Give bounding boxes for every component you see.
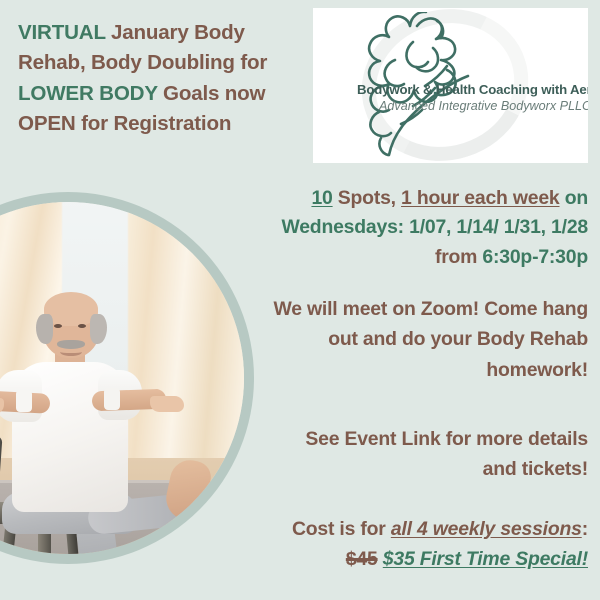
- schedule-line-spots: 10 Spots, 1 hour each week on: [270, 184, 588, 213]
- photo-person-wrist-cuff-left: [16, 390, 32, 412]
- cost-block: Cost is for all 4 weekly sessions: $45 $…: [270, 514, 588, 575]
- photo-person-smile: [60, 348, 82, 356]
- headline: VIRTUAL January Body Rehab, Body Doublin…: [18, 18, 300, 139]
- logo-title: Bodywork & Health Coaching with Aera: [357, 82, 587, 97]
- cost-emphasis: all 4 weekly sessions: [391, 518, 582, 540]
- photo-person-hair-left: [36, 314, 53, 344]
- headline-line2: Rehab, Body Doubling for: [18, 51, 267, 74]
- logo-subtitle: Advanced Integrative Bodyworx PLLC: [379, 99, 587, 113]
- schedule-line-dates: Wednesdays: 1/07, 1/14/ 1/31, 1/28: [270, 213, 588, 242]
- headline-line1-brown: January Body: [111, 21, 245, 44]
- headline-line3-brown: Goals now: [163, 82, 265, 105]
- zoom-note-line2: out and do your Body Rehab: [270, 324, 588, 354]
- headline-line4: OPEN for Registration: [18, 112, 231, 135]
- schedule-time: 6:30p-7:30p: [482, 246, 588, 268]
- schedule-on-word: on: [565, 187, 588, 209]
- schedule-dates: 1/07, 1/14/ 1/31, 1/28: [409, 216, 588, 238]
- schedule-day-label: Wednesdays:: [281, 216, 403, 238]
- cost-old-price: $45: [346, 548, 378, 570]
- cost-line-price: $45 $35 First Time Special!: [270, 544, 588, 574]
- logo-card: Bodywork & Health Coaching with Aera Adv…: [313, 8, 588, 163]
- photo-circle: [0, 202, 244, 554]
- headline-virtual: VIRTUAL: [18, 21, 105, 44]
- photo-person-hand-right: [150, 396, 184, 412]
- photo-person-wrist-cuff-right: [104, 388, 120, 410]
- zoom-note-block: We will meet on Zoom! Come hang out and …: [270, 294, 588, 385]
- event-link-line2: and tickets!: [270, 454, 588, 484]
- cost-new-price: $35 First Time Special!: [383, 548, 588, 570]
- photo-person-eye-right: [78, 324, 86, 328]
- session-duration: 1 hour each week: [401, 187, 559, 209]
- headline-lower-body: LOWER BODY: [18, 82, 158, 105]
- zoom-note-line1: We will meet on Zoom! Come hang: [270, 294, 588, 324]
- event-link-line1: See Event Link for more details: [270, 424, 588, 454]
- schedule-line-time: from 6:30p-7:30p: [270, 243, 588, 272]
- spots-count: 10: [311, 187, 332, 209]
- schedule-from-label: from: [435, 246, 477, 268]
- cost-prefix: Cost is for: [292, 518, 386, 540]
- photo-person-eye-left: [54, 324, 62, 328]
- cost-colon: :: [582, 518, 588, 540]
- poster-canvas: Bodywork & Health Coaching with Aera Adv…: [0, 0, 600, 600]
- spots-label: Spots,: [338, 187, 396, 209]
- cost-line-label: Cost is for all 4 weekly sessions:: [270, 514, 588, 544]
- schedule-block: 10 Spots, 1 hour each week on Wednesdays…: [270, 184, 588, 272]
- event-link-block: See Event Link for more details and tick…: [270, 424, 588, 485]
- zoom-note-line3: homework!: [270, 355, 588, 385]
